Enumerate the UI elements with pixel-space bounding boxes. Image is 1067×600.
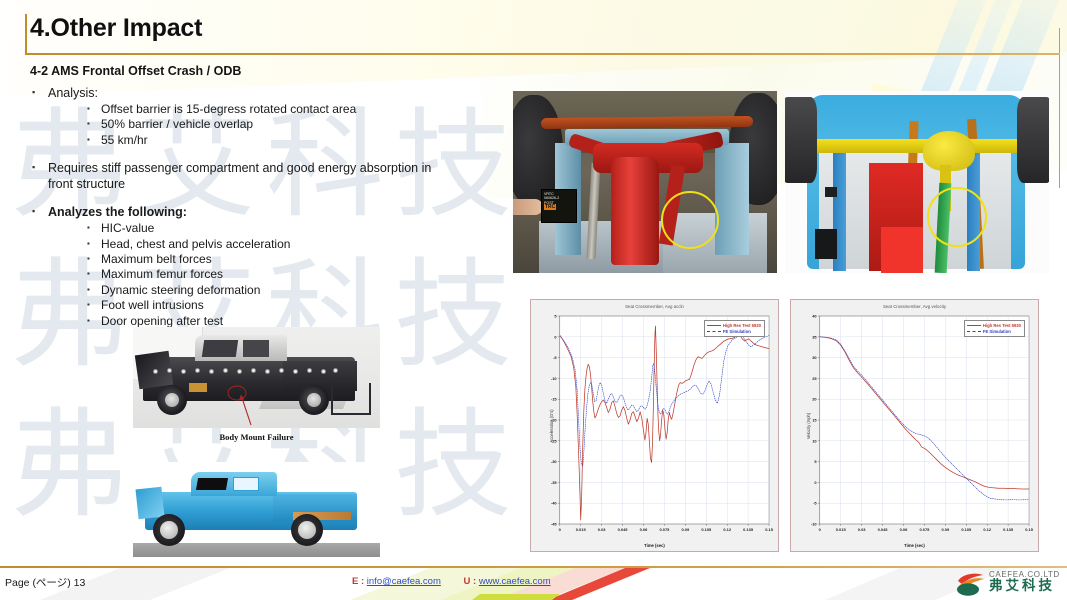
svg-text:5: 5 [554, 313, 557, 318]
svg-text:0.105: 0.105 [701, 527, 712, 532]
analysis-sublist: Offset barrier is 15-degress rotated con… [87, 102, 510, 148]
slide-canvas: 弗艾科技 弗艾科技 弗艾科技 4.Other Impact 4-2 AMS Fr… [0, 0, 1067, 600]
callout-arrow-icon [133, 327, 380, 428]
svg-text:-40: -40 [551, 501, 558, 506]
svg-text:0.015: 0.015 [576, 527, 587, 532]
section-subheading-text: AMS Frontal Offset Crash / ODB [51, 64, 241, 78]
svg-text:0.075: 0.075 [659, 527, 670, 532]
right-accent-line [1059, 28, 1060, 188]
list-item: Head, chest and pelvis acceleration [87, 237, 510, 252]
svg-text:0: 0 [814, 480, 817, 485]
svg-text:15: 15 [812, 417, 817, 422]
chart-legend: High Res Test 5920 FE Simulation [964, 320, 1025, 337]
url-link[interactable]: www.caefea.com [479, 576, 551, 587]
chart-xlabel: Time (sec) [534, 542, 775, 549]
svg-text:0.135: 0.135 [1003, 527, 1014, 532]
svg-text:0.135: 0.135 [743, 527, 754, 532]
svg-text:0.12: 0.12 [723, 527, 731, 532]
bullet-requires: Requires stiff passenger compartment and… [30, 161, 510, 176]
page-number: Page (ページ) 13 [5, 575, 85, 590]
legend-swatch-sim [967, 331, 981, 332]
chart-title: Seat Crossmember, Avg velocity [794, 303, 1035, 310]
svg-text:-5: -5 [813, 501, 817, 506]
highlight-circle-icon [927, 187, 987, 247]
svg-text:0.15: 0.15 [1025, 527, 1033, 532]
tire-right [1017, 97, 1049, 183]
svg-text:0.03: 0.03 [598, 527, 606, 532]
list-item: 50% barrier / vehicle overlap [87, 117, 510, 132]
section-subheading: 4-2 AMS Frontal Offset Crash / ODB [30, 64, 241, 78]
test-id-tag: VRTC 060626-2 POST TRC [541, 189, 577, 223]
svg-text:0.09: 0.09 [681, 527, 689, 532]
bullet-analysis: Analysis: [30, 86, 510, 101]
svg-text:0.075: 0.075 [919, 527, 930, 532]
list-item: Maximum femur forces [87, 267, 510, 282]
title-divider [25, 53, 1060, 55]
svg-text:-30: -30 [551, 459, 558, 464]
footer-contact: E : info@caefea.com U : www.caefea.com [352, 576, 571, 587]
truck-crash-photo [133, 327, 380, 428]
svg-text:-35: -35 [551, 480, 558, 485]
chart-title: Seat Crossmember, Avg accln [534, 303, 775, 310]
svg-text:40: 40 [812, 313, 817, 318]
svg-text:-15: -15 [551, 397, 558, 402]
svg-text:20: 20 [812, 397, 817, 402]
svg-text:0.105: 0.105 [961, 527, 972, 532]
legend-swatch-sim [707, 331, 721, 332]
svg-text:10: 10 [812, 438, 817, 443]
svg-text:0.15: 0.15 [765, 527, 773, 532]
svg-text:25: 25 [812, 376, 817, 381]
chart-acceleration: Seat Crossmember, Avg accln Acceleration… [530, 299, 779, 552]
svg-text:0: 0 [554, 334, 557, 339]
list-item: Dynamic steering deformation [87, 283, 510, 298]
svg-text:0.03: 0.03 [858, 527, 866, 532]
company-logo: CAEFEA.CO.LTD 弗艾科技 [955, 570, 1063, 598]
truck-fe-model [133, 462, 380, 557]
svg-text:-10: -10 [551, 376, 558, 381]
legend-label-sim: FE Simulation [723, 329, 751, 335]
content-bullets: Analysis: Offset barrier is 15-degress r… [30, 86, 510, 329]
logo-company-name-cn: 弗艾科技 [989, 579, 1060, 594]
email-label: E : [352, 576, 364, 587]
svg-text:35: 35 [812, 334, 817, 339]
svg-text:0: 0 [819, 527, 822, 532]
list-item: HIC-value [87, 221, 510, 236]
tag-badge: TRC [544, 204, 556, 210]
url-label: U : [464, 576, 477, 587]
section-number: 4-2 [30, 64, 48, 78]
legend-swatch-test [707, 325, 721, 326]
svg-text:0.06: 0.06 [900, 527, 908, 532]
page-title: 4.Other Impact [30, 14, 202, 43]
legend-swatch-test [967, 325, 981, 326]
svg-text:5: 5 [814, 459, 817, 464]
svg-text:-45: -45 [551, 521, 558, 526]
highlight-circle-icon [661, 191, 719, 249]
svg-text:0.09: 0.09 [941, 527, 949, 532]
chart-ylabel: Acceleration (G's) [549, 409, 554, 442]
svg-text:0.06: 0.06 [640, 527, 648, 532]
list-item: Maximum belt forces [87, 252, 510, 267]
svg-text:30: 30 [812, 355, 817, 360]
email-link[interactable]: info@caefea.com [367, 576, 441, 587]
svg-text:0: 0 [559, 527, 562, 532]
chart-xlabel: Time (sec) [794, 542, 1035, 549]
list-item: Foot well intrusions [87, 298, 510, 313]
svg-text:-10: -10 [811, 521, 818, 526]
svg-text:0.045: 0.045 [878, 527, 889, 532]
title-left-tick [25, 14, 27, 54]
svg-text:0.045: 0.045 [618, 527, 629, 532]
chart-velocity: Seat Crossmember, Avg velocity Velocity … [790, 299, 1039, 552]
list-item: Offset barrier is 15-degress rotated con… [87, 102, 510, 117]
chart-ylabel: Velocity (mph) [806, 413, 811, 440]
figure-caption: Body Mount Failure [133, 432, 380, 442]
bullet-analyzes: Analyzes the following: [30, 205, 510, 220]
logo-swoosh-icon [955, 572, 985, 596]
svg-text:-5: -5 [553, 355, 557, 360]
bullet-requires-continuation: front structure [30, 177, 510, 192]
chart-legend: High Res Test 5920 FE Simulation [704, 320, 765, 337]
tire-left [785, 97, 817, 183]
undercarriage-photo: VRTC 060626-2 POST TRC [513, 91, 777, 273]
list-item: 55 km/hr [87, 133, 510, 148]
undercarriage-fe-model [785, 91, 1049, 273]
legend-label-sim: FE Simulation [983, 329, 1011, 335]
svg-text:0.015: 0.015 [836, 527, 847, 532]
analyzes-sublist: HIC-value Head, chest and pelvis acceler… [87, 221, 510, 329]
svg-text:0.12: 0.12 [983, 527, 991, 532]
